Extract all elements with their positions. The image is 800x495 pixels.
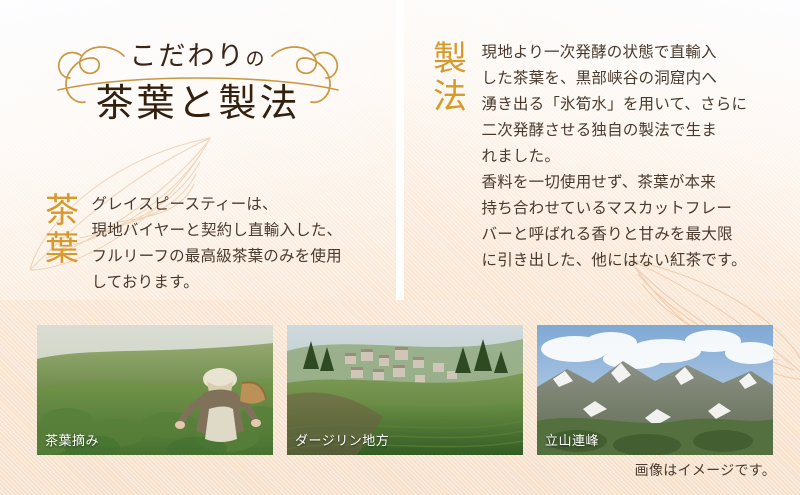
header: こだわりの 茶葉と製法 (0, 28, 396, 153)
section-seiho: 製法 現地より一次発酵の状態で直輸入 した茶葉を、黒部峡谷の洞窟内へ 湧き出る「… (424, 40, 747, 274)
photo-caption: 茶葉摘み (45, 430, 99, 449)
panel-gutter (396, 0, 404, 300)
image-disclaimer-note: 画像はイメージです。 (635, 460, 776, 480)
section-seiho-text: 現地より一次発酵の状態で直輸入 した茶葉を、黒部峡谷の洞窟内へ 湧き出る「氷筍水… (482, 40, 748, 274)
page-eyebrow-suffix: の (245, 49, 266, 70)
photo-darjeeling: ダージリン地方 (287, 325, 523, 455)
section-chaba: 茶葉 グレイスピースティーは、 現地バイヤーと契約し直輸入した、 フルリーフの最… (36, 192, 342, 296)
page-eyebrow: こだわりの (0, 34, 396, 73)
section-seiho-label: 製法 (424, 40, 468, 132)
photo-tateyama: 立山連峰 (537, 325, 773, 455)
page-title: 茶葉と製法 (0, 72, 396, 127)
page-eyebrow-main: こだわり (129, 41, 245, 71)
section-chaba-label: 茶葉 (36, 192, 80, 278)
section-chaba-text: グレイスピースティーは、 現地バイヤーと契約し直輸入した、 フルリーフの最高級茶… (92, 192, 343, 296)
photo-row: 茶葉摘み (37, 325, 773, 455)
photo-caption: ダージリン地方 (295, 430, 389, 449)
photo-caption: 立山連峰 (545, 430, 599, 449)
promo-banner: こだわりの 茶葉と製法 茶葉 グレイスピースティーは、 現地バイヤーと契約し直輸… (0, 0, 800, 495)
photo-tea-picking: 茶葉摘み (37, 325, 273, 455)
